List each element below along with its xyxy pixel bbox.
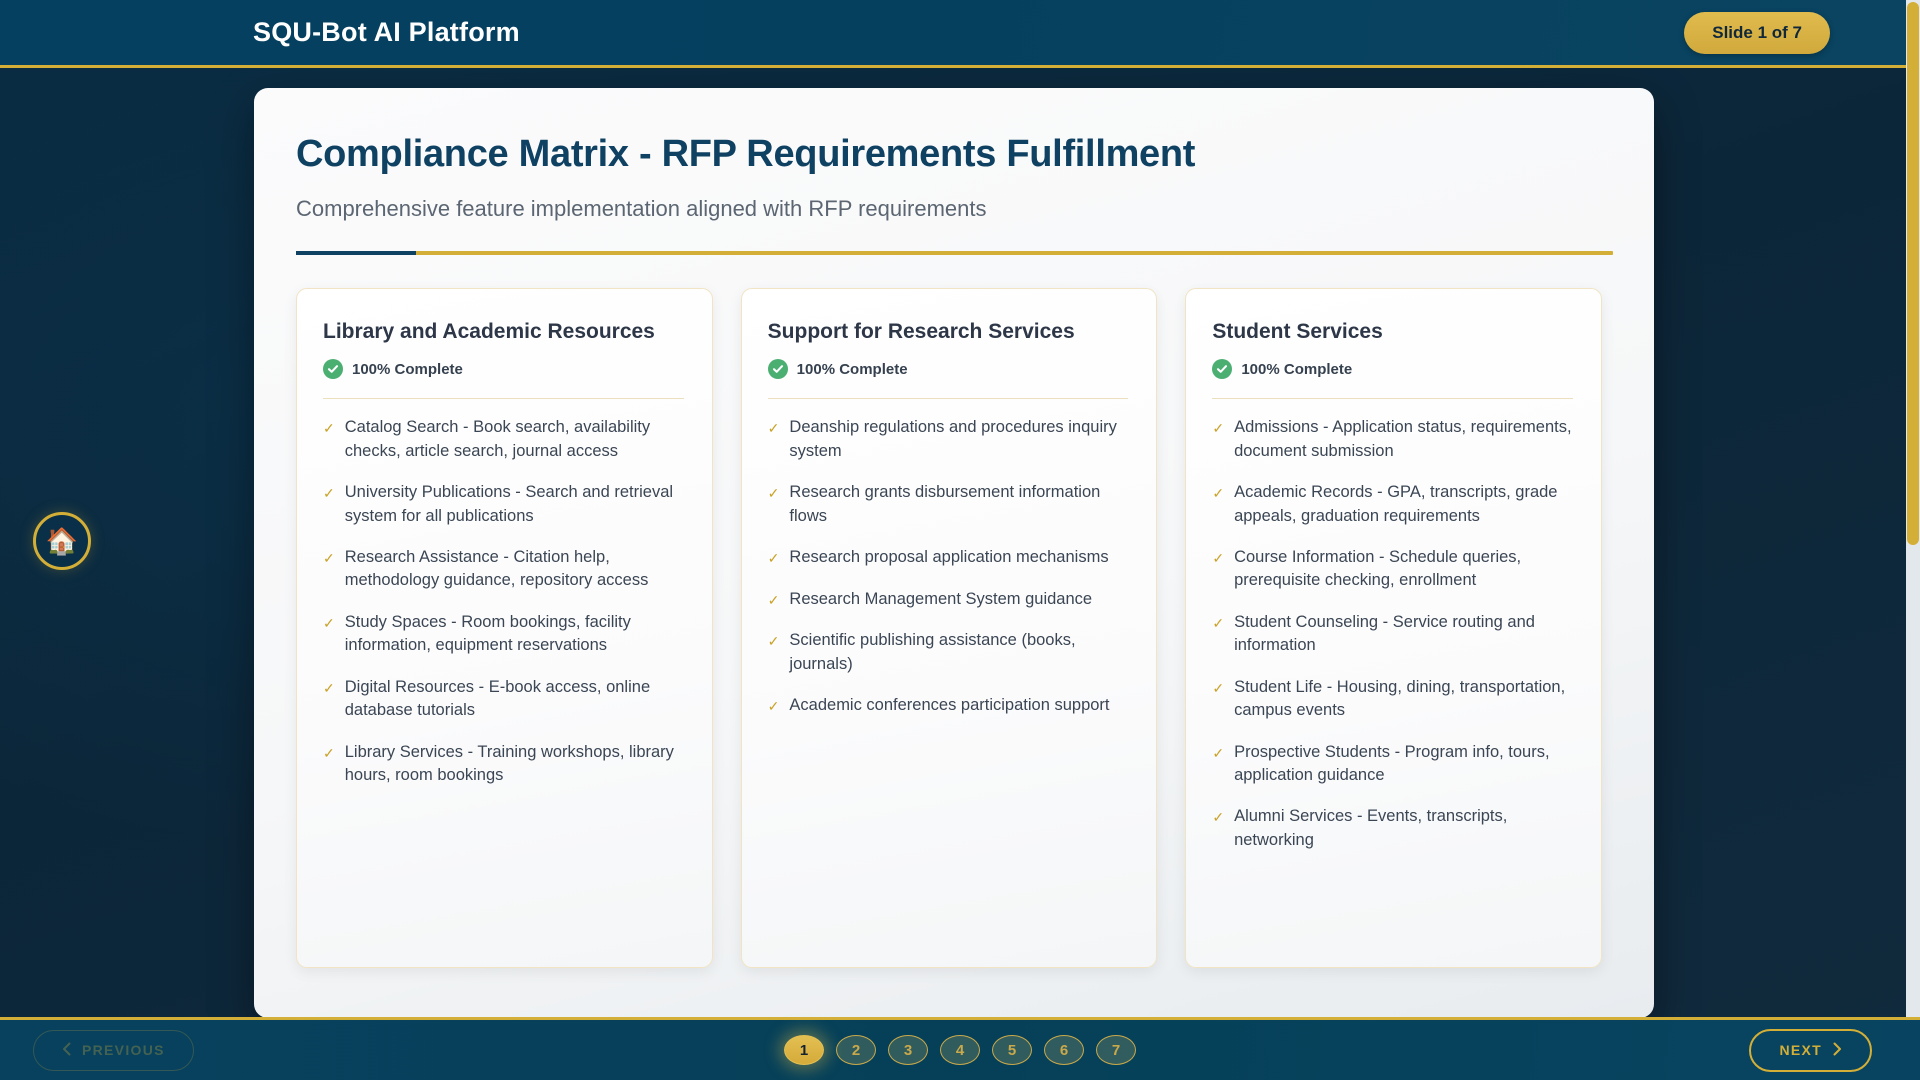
card-divider [323, 398, 684, 399]
slide-dot-7[interactable]: 7 [1096, 1035, 1136, 1065]
house-icon: 🏠 [46, 528, 78, 554]
feature-list-item: ✓Student Life - Housing, dining, transpo… [1212, 676, 1573, 723]
feature-card: Support for Research Services100% Comple… [741, 288, 1158, 968]
feature-list: ✓Deanship regulations and procedures inq… [768, 416, 1129, 718]
checkmark-icon: ✓ [1212, 546, 1224, 570]
checkmark-icon: ✓ [323, 676, 335, 700]
slide-dot-6[interactable]: 6 [1044, 1035, 1084, 1065]
feature-list-item: ✓Academic conferences participation supp… [768, 694, 1129, 718]
feature-list: ✓Admissions - Application status, requir… [1212, 416, 1573, 852]
feature-list-item-label: Catalog Search - Book search, availabili… [345, 416, 684, 463]
home-button[interactable]: 🏠 [33, 512, 91, 570]
top-header-bar: SQU-Bot AI Platform Slide 1 of 7 [0, 0, 1920, 68]
feature-list-item-label: Course Information - Schedule queries, p… [1234, 546, 1573, 593]
check-circle-icon [1212, 359, 1232, 379]
checkmark-icon: ✓ [1212, 611, 1224, 635]
feature-list-item-label: Scientific publishing assistance (books,… [789, 629, 1128, 676]
checkmark-icon: ✓ [768, 546, 780, 570]
slide-dot-indicators: 1234567 [784, 1035, 1136, 1065]
feature-list-item-label: Alumni Services - Events, transcripts, n… [1234, 805, 1573, 852]
feature-list-item: ✓Student Counseling - Service routing an… [1212, 611, 1573, 658]
page-scrollbar-thumb[interactable] [1907, 2, 1919, 545]
feature-card-title: Student Services [1212, 319, 1573, 346]
completion-status: 100% Complete [768, 359, 1129, 379]
chevron-left-icon [62, 1042, 71, 1059]
checkmark-icon: ✓ [323, 611, 335, 635]
feature-list-item: ✓Admissions - Application status, requir… [1212, 416, 1573, 463]
slide-subtitle: Comprehensive feature implementation ali… [296, 195, 1602, 224]
checkmark-icon: ✓ [768, 629, 780, 653]
feature-list-item-label: Deanship regulations and procedures inqu… [789, 416, 1128, 463]
feature-list-item-label: Research grants disbursement information… [789, 481, 1128, 528]
card-divider [1212, 398, 1573, 399]
slide-dot-1[interactable]: 1 [784, 1035, 824, 1065]
feature-list-item: ✓Research Assistance - Citation help, me… [323, 546, 684, 593]
feature-card-title: Support for Research Services [768, 319, 1129, 346]
check-circle-icon [768, 359, 788, 379]
feature-card: Library and Academic Resources100% Compl… [296, 288, 713, 968]
feature-list-item: ✓Course Information - Schedule queries, … [1212, 546, 1573, 593]
feature-list-item: ✓Research grants disbursement informatio… [768, 481, 1129, 528]
feature-list-item-label: Library Services - Training workshops, l… [345, 741, 684, 788]
completion-status-label: 100% Complete [797, 361, 908, 378]
checkmark-icon: ✓ [1212, 676, 1224, 700]
feature-list: ✓Catalog Search - Book search, availabil… [323, 416, 684, 787]
feature-list-item-label: University Publications - Search and ret… [345, 481, 684, 528]
app-title: SQU-Bot AI Platform [253, 17, 520, 48]
previous-button-label: PREVIOUS [82, 1042, 165, 1058]
chevron-right-icon [1833, 1042, 1842, 1059]
feature-list-item-label: Research Management System guidance [789, 588, 1092, 611]
slide-dot-4[interactable]: 4 [940, 1035, 980, 1065]
feature-list-item: ✓Academic Records - GPA, transcripts, gr… [1212, 481, 1573, 528]
slide-dot-5[interactable]: 5 [992, 1035, 1032, 1065]
completion-status: 100% Complete [323, 359, 684, 379]
feature-card: Student Services100% Complete✓Admissions… [1185, 288, 1602, 968]
feature-list-item-label: Academic Records - GPA, transcripts, gra… [1234, 481, 1573, 528]
checkmark-icon: ✓ [323, 741, 335, 765]
feature-list-item: ✓University Publications - Search and re… [323, 481, 684, 528]
checkmark-icon: ✓ [1212, 481, 1224, 505]
feature-list-item: ✓Scientific publishing assistance (books… [768, 629, 1129, 676]
feature-list-item: ✓Study Spaces - Room bookings, facility … [323, 611, 684, 658]
feature-list-item: ✓Research proposal application mechanism… [768, 546, 1129, 570]
feature-list-item-label: Digital Resources - E-book access, onlin… [345, 676, 684, 723]
completion-status-label: 100% Complete [352, 361, 463, 378]
next-button[interactable]: NEXT [1749, 1029, 1872, 1072]
completion-status: 100% Complete [1212, 359, 1573, 379]
feature-cards-container: Library and Academic Resources100% Compl… [296, 288, 1602, 968]
feature-card-title: Library and Academic Resources [323, 319, 684, 346]
slide-dot-2[interactable]: 2 [836, 1035, 876, 1065]
checkmark-icon: ✓ [1212, 416, 1224, 440]
previous-button[interactable]: PREVIOUS [33, 1030, 194, 1071]
check-circle-icon [323, 359, 343, 379]
checkmark-icon: ✓ [323, 546, 335, 570]
checkmark-icon: ✓ [1212, 741, 1224, 765]
bottom-navigation-bar: PREVIOUS 1234567 NEXT [0, 1017, 1920, 1080]
title-underline-rule [296, 251, 1613, 255]
feature-list-item-label: Study Spaces - Room bookings, facility i… [345, 611, 684, 658]
next-button-label: NEXT [1779, 1042, 1822, 1058]
checkmark-icon: ✓ [323, 481, 335, 505]
card-divider [768, 398, 1129, 399]
feature-list-item: ✓Digital Resources - E-book access, onli… [323, 676, 684, 723]
feature-list-item-label: Prospective Students - Program info, tou… [1234, 741, 1573, 788]
slide-dot-3[interactable]: 3 [888, 1035, 928, 1065]
slide-panel: Compliance Matrix - RFP Requirements Ful… [254, 88, 1654, 1018]
feature-list-item-label: Academic conferences participation suppo… [789, 694, 1109, 717]
checkmark-icon: ✓ [768, 694, 780, 718]
feature-list-item: ✓Library Services - Training workshops, … [323, 741, 684, 788]
checkmark-icon: ✓ [323, 416, 335, 440]
checkmark-icon: ✓ [768, 416, 780, 440]
feature-list-item-label: Student Counseling - Service routing and… [1234, 611, 1573, 658]
slide-counter-badge: Slide 1 of 7 [1684, 12, 1830, 54]
feature-list-item: ✓Deanship regulations and procedures inq… [768, 416, 1129, 463]
feature-list-item: ✓Research Management System guidance [768, 588, 1129, 612]
completion-status-label: 100% Complete [1241, 361, 1352, 378]
feature-list-item-label: Admissions - Application status, require… [1234, 416, 1573, 463]
feature-list-item-label: Research Assistance - Citation help, met… [345, 546, 684, 593]
checkmark-icon: ✓ [768, 481, 780, 505]
feature-list-item: ✓Alumni Services - Events, transcripts, … [1212, 805, 1573, 852]
feature-list-item-label: Research proposal application mechanisms [789, 546, 1108, 569]
feature-list-item-label: Student Life - Housing, dining, transpor… [1234, 676, 1573, 723]
feature-list-item: ✓Prospective Students - Program info, to… [1212, 741, 1573, 788]
slide-title: Compliance Matrix - RFP Requirements Ful… [296, 132, 1602, 177]
checkmark-icon: ✓ [768, 588, 780, 612]
checkmark-icon: ✓ [1212, 805, 1224, 829]
feature-list-item: ✓Catalog Search - Book search, availabil… [323, 416, 684, 463]
